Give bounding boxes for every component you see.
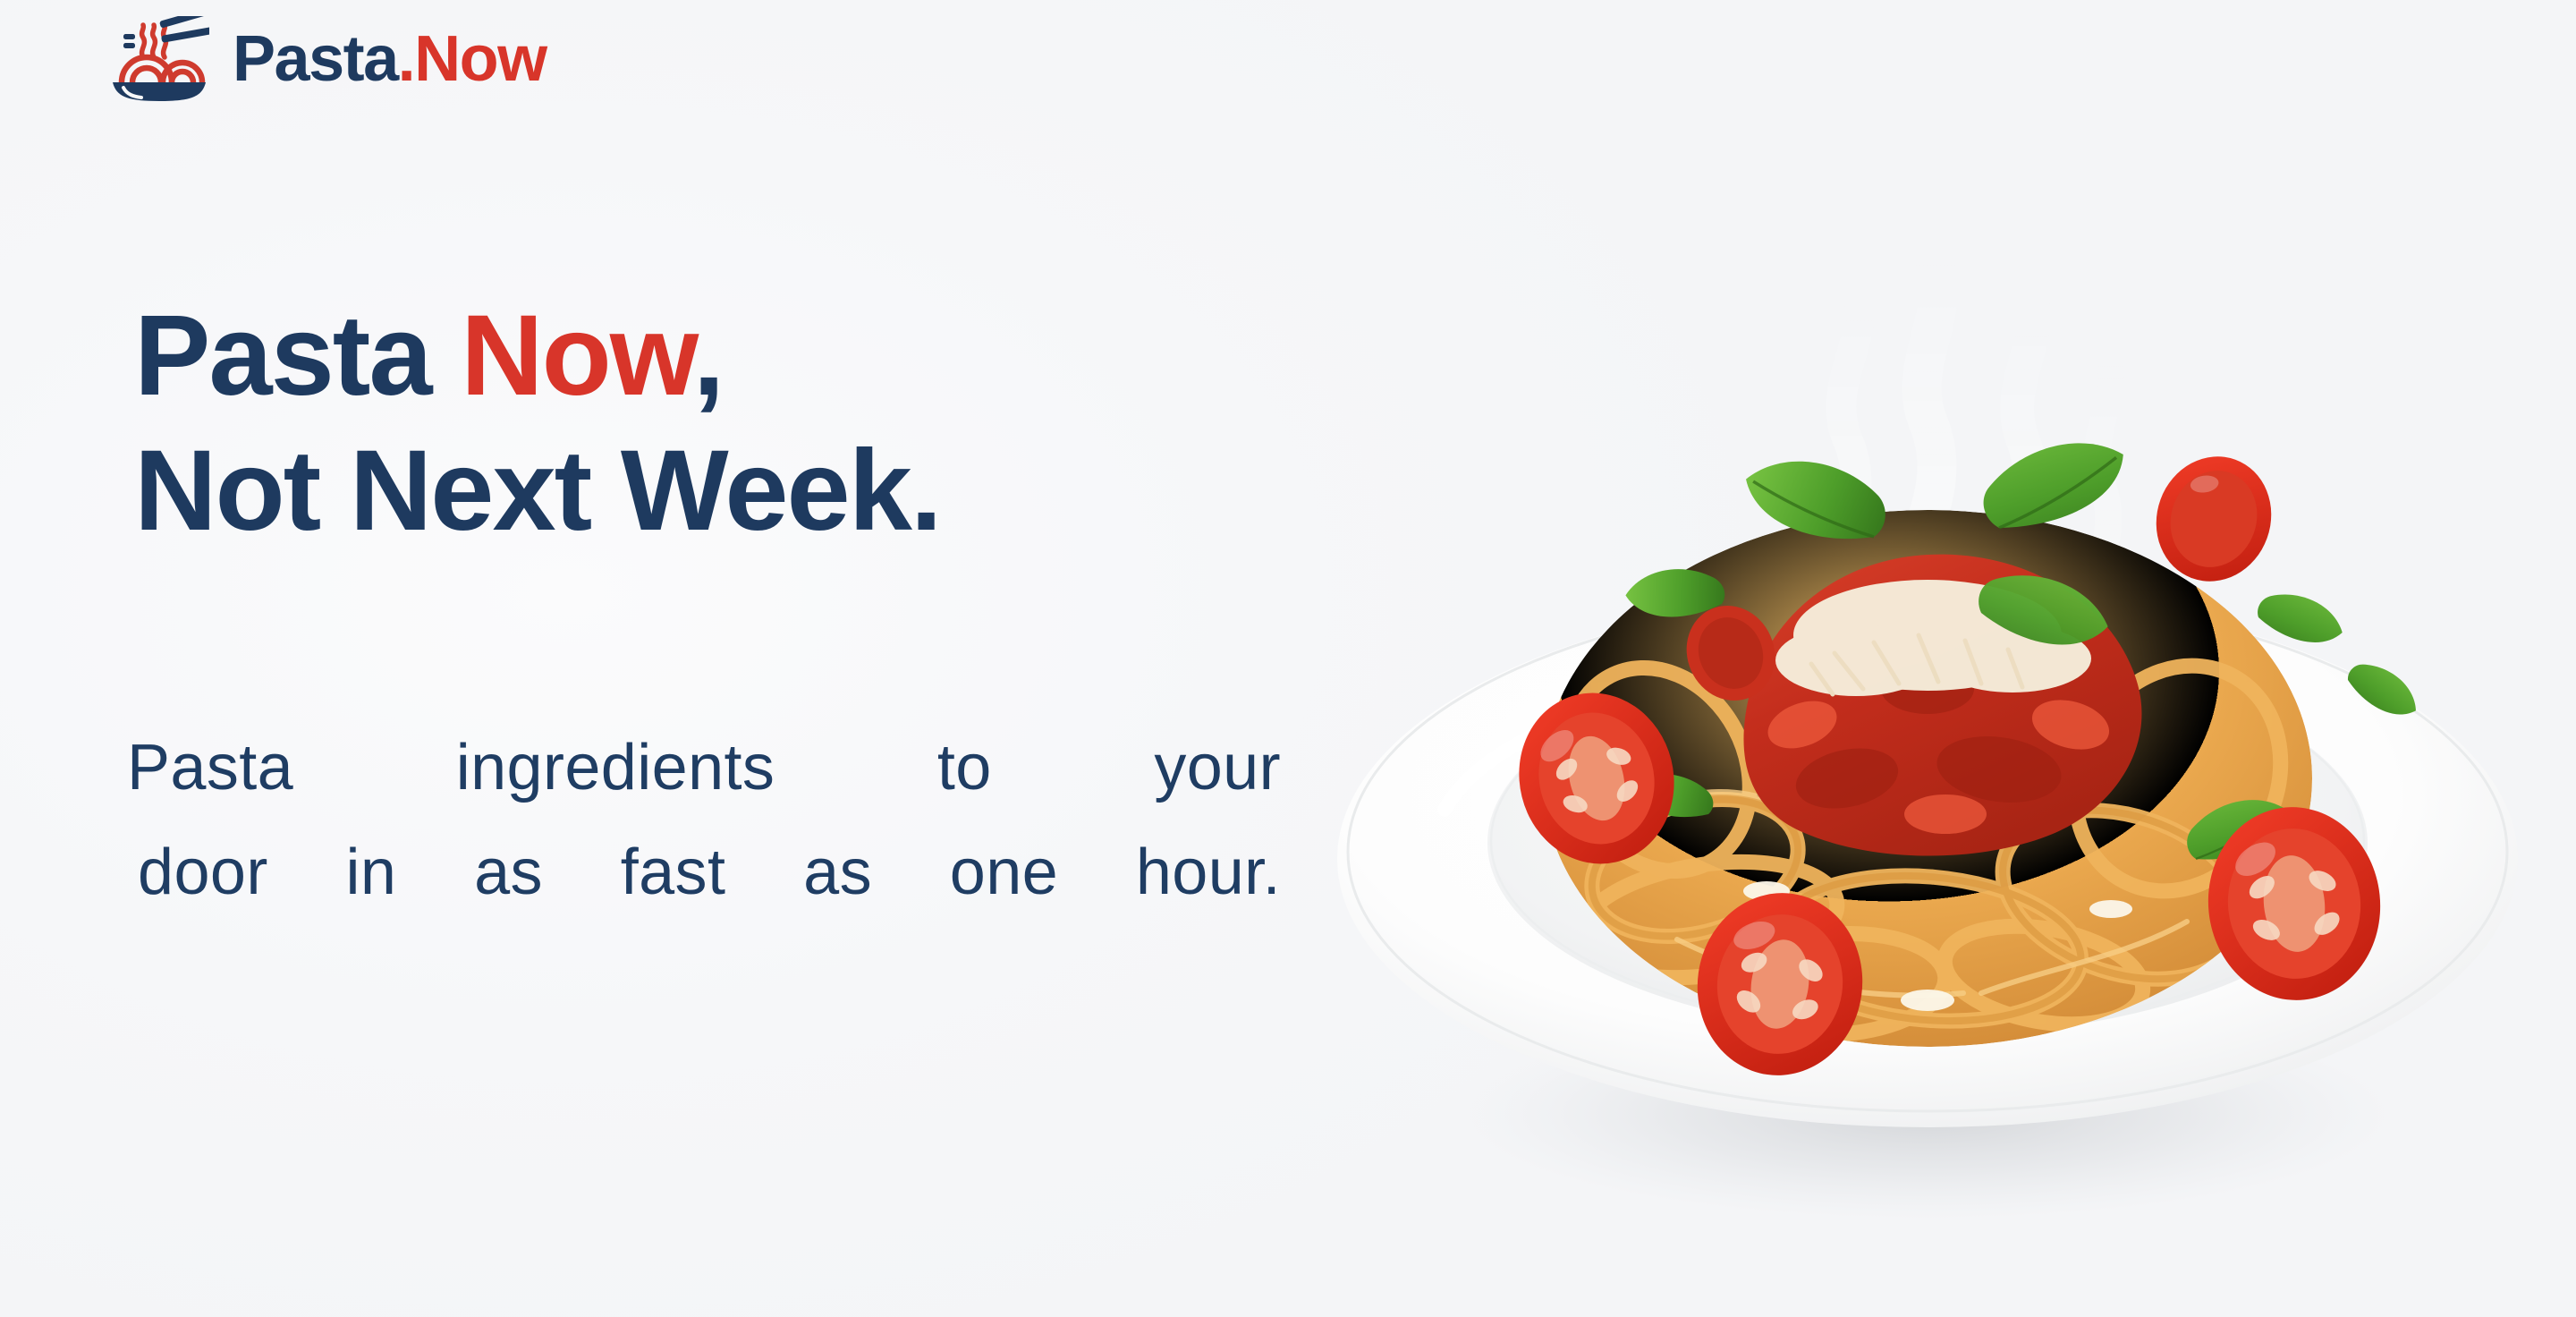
- hero-headline: Pasta Now, Not Next Week.: [134, 288, 940, 558]
- brand-wordmark: Pasta.Now: [233, 27, 547, 91]
- headline-word-now: Now: [461, 292, 692, 420]
- hero-subheading: Pasta ingredients to your door in as fas…: [127, 716, 1281, 924]
- headline-word-pasta: Pasta: [134, 292, 461, 420]
- brand-logo[interactable]: Pasta.Now: [109, 16, 547, 102]
- noodle-bowl-chopsticks-icon: [109, 16, 209, 102]
- brand-name-accent: .Now: [398, 27, 547, 91]
- headline-line-2: Not Next Week.: [134, 423, 940, 558]
- hero-banner: Pasta.Now Pasta Now, Not Next Week. Past…: [0, 0, 2576, 1317]
- brand-name-primary: Pasta: [233, 27, 398, 91]
- subheading-line-2: door in as fast as one hour.: [127, 820, 1281, 925]
- subheading-line-1: Pasta ingredients to your: [127, 716, 1281, 820]
- pasta-dish-image: [1301, 152, 2554, 1262]
- headline-line-1: Pasta Now,: [134, 288, 940, 423]
- headline-comma: ,: [693, 292, 724, 420]
